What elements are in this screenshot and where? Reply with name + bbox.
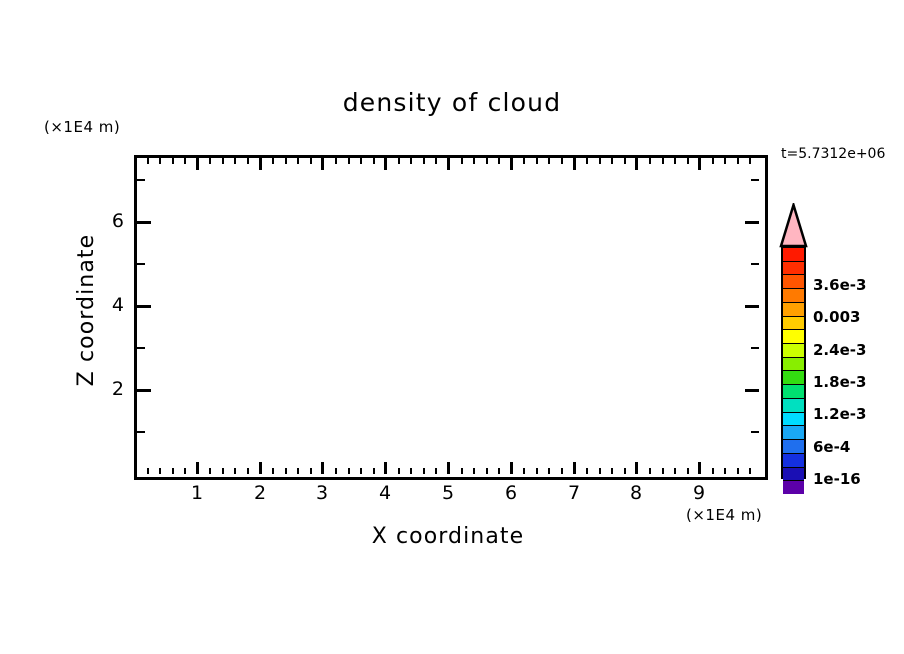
x-minor-tick (749, 468, 751, 474)
x-minor-tick-top (498, 158, 500, 164)
x-minor-tick-top (687, 158, 689, 164)
x-minor-tick (410, 468, 412, 474)
x-tick-label: 3 (307, 482, 337, 504)
x-major-tick-top (259, 158, 262, 170)
x-minor-tick (335, 468, 337, 474)
x-major-tick-top (196, 158, 199, 170)
x-minor-tick (599, 468, 601, 474)
x-minor-tick (398, 468, 400, 474)
colorbar-tick-label: 1.2e-3 (813, 405, 866, 423)
x-minor-tick (209, 468, 211, 474)
x-minor-tick (247, 468, 249, 474)
x-axis-title: X coordinate (134, 524, 762, 549)
x-minor-tick (473, 468, 475, 474)
colorbar-band (783, 358, 804, 372)
x-minor-tick (611, 468, 613, 474)
x-minor-tick-top (662, 158, 664, 164)
x-minor-tick (687, 468, 689, 474)
x-minor-tick-top (247, 158, 249, 164)
x-minor-tick (272, 468, 274, 474)
x-major-tick-top (447, 158, 450, 170)
y-axis-title: Z coordinate (74, 220, 99, 400)
x-minor-tick (662, 468, 664, 474)
x-minor-tick-top (398, 158, 400, 164)
x-major-tick (447, 462, 450, 474)
x-major-tick-top (321, 158, 324, 170)
x-major-tick-top (510, 158, 513, 170)
x-tick-label: 9 (684, 482, 714, 504)
y-minor-tick (137, 263, 145, 265)
colorbar-band (783, 385, 804, 399)
y-minor-tick (137, 431, 145, 433)
x-minor-tick-top (586, 158, 588, 164)
colorbar-band (783, 275, 804, 289)
x-minor-tick-top (348, 158, 350, 164)
colorbar-tick-label: 2.4e-3 (813, 341, 866, 359)
x-minor-tick (649, 468, 651, 474)
colorbar-band (783, 413, 804, 427)
x-minor-tick-top (272, 158, 274, 164)
colorbar-over-cap (779, 203, 808, 248)
x-minor-tick (423, 468, 425, 474)
x-minor-tick-top (624, 158, 626, 164)
x-major-tick-top (384, 158, 387, 170)
colorbar-band (783, 440, 804, 454)
x-major-tick (698, 462, 701, 474)
time-annotation: t=5.7312e+06 (781, 146, 885, 162)
x-minor-tick-top (461, 158, 463, 164)
colorbar-band (783, 399, 804, 413)
colorbar-tick-label: 1e-16 (813, 470, 861, 488)
x-minor-tick (548, 468, 550, 474)
x-tick-label: 2 (245, 482, 275, 504)
y-major-tick-right (745, 389, 759, 392)
y-minor-tick (137, 179, 145, 181)
x-minor-tick (674, 468, 676, 474)
x-minor-tick (360, 468, 362, 474)
x-minor-tick (624, 468, 626, 474)
x-major-tick (384, 462, 387, 474)
x-minor-tick (586, 468, 588, 474)
x-minor-tick-top (147, 158, 149, 164)
x-minor-tick-top (310, 158, 312, 164)
x-minor-tick-top (536, 158, 538, 164)
colorbar-band (783, 330, 804, 344)
x-minor-tick-top (423, 158, 425, 164)
x-major-tick (573, 462, 576, 474)
x-major-tick (196, 462, 199, 474)
y-minor-tick-right (751, 263, 759, 265)
y-major-tick (137, 221, 151, 224)
x-minor-tick (712, 468, 714, 474)
x-minor-tick (737, 468, 739, 474)
x-minor-tick-top (435, 158, 437, 164)
x-tick-label: 7 (559, 482, 589, 504)
y-major-tick (137, 305, 151, 308)
x-minor-tick (172, 468, 174, 474)
colorbar (781, 246, 806, 479)
x-minor-tick (498, 468, 500, 474)
page-title: density of cloud (0, 88, 904, 117)
x-minor-tick-top (473, 158, 475, 164)
x-minor-tick (724, 468, 726, 474)
x-major-tick (321, 462, 324, 474)
x-minor-tick-top (209, 158, 211, 164)
x-minor-tick-top (410, 158, 412, 164)
x-minor-tick (461, 468, 463, 474)
x-minor-tick (348, 468, 350, 474)
y-minor-tick-right (751, 431, 759, 433)
x-minor-tick-top (611, 158, 613, 164)
colorbar-tick-label: 3.6e-3 (813, 276, 866, 294)
colorbar-tick-label: 6e-4 (813, 438, 850, 456)
x-major-tick (635, 462, 638, 474)
x-major-tick-top (698, 158, 701, 170)
x-minor-tick (184, 468, 186, 474)
x-minor-tick-top (548, 158, 550, 164)
x-minor-tick (373, 468, 375, 474)
x-minor-tick-top (737, 158, 739, 164)
x-minor-tick-top (724, 158, 726, 164)
x-minor-tick-top (360, 158, 362, 164)
y-minor-tick-right (751, 179, 759, 181)
colorbar-band (783, 303, 804, 317)
x-major-tick-top (635, 158, 638, 170)
colorbar-band (783, 481, 804, 494)
colorbar-tick-label: 1.8e-3 (813, 373, 866, 391)
x-minor-tick (159, 468, 161, 474)
x-minor-tick-top (285, 158, 287, 164)
x-major-tick-top (573, 158, 576, 170)
x-minor-tick-top (297, 158, 299, 164)
x-minor-tick-top (674, 158, 676, 164)
x-minor-tick-top (234, 158, 236, 164)
colorbar-band (783, 426, 804, 440)
x-major-tick (259, 462, 262, 474)
x-minor-tick-top (486, 158, 488, 164)
y-minor-tick (137, 347, 145, 349)
x-tick-label: 6 (496, 482, 526, 504)
x-minor-tick-top (561, 158, 563, 164)
x-minor-tick-top (523, 158, 525, 164)
colorbar-band (783, 262, 804, 276)
x-minor-tick (435, 468, 437, 474)
colorbar-band (783, 468, 804, 482)
x-minor-tick (147, 468, 149, 474)
x-minor-tick-top (222, 158, 224, 164)
x-minor-tick (561, 468, 563, 474)
x-minor-tick-top (649, 158, 651, 164)
colorbar-band (783, 344, 804, 358)
x-minor-tick (285, 468, 287, 474)
y-major-tick (137, 389, 151, 392)
x-minor-tick (297, 468, 299, 474)
x-minor-tick-top (172, 158, 174, 164)
x-tick-label: 1 (182, 482, 212, 504)
colorbar-band (783, 371, 804, 385)
y-minor-tick-right (751, 347, 759, 349)
y-major-tick-right (745, 305, 759, 308)
x-minor-tick-top (712, 158, 714, 164)
x-major-tick (510, 462, 513, 474)
x-minor-tick (486, 468, 488, 474)
x-axis-unit-label: (×1E4 m) (686, 506, 762, 524)
x-minor-tick-top (373, 158, 375, 164)
x-minor-tick-top (335, 158, 337, 164)
x-minor-tick (523, 468, 525, 474)
x-tick-label: 8 (621, 482, 651, 504)
colorbar-tick-label: 0.003 (813, 308, 860, 326)
x-tick-label: 4 (370, 482, 400, 504)
x-minor-tick-top (184, 158, 186, 164)
colorbar-band (783, 289, 804, 303)
colorbar-band (783, 454, 804, 468)
y-axis-unit-label: (×1E4 m) (44, 118, 120, 136)
colorbar-band (783, 317, 804, 331)
x-minor-tick (536, 468, 538, 474)
colorbar-band (783, 248, 804, 262)
x-minor-tick (310, 468, 312, 474)
x-minor-tick (222, 468, 224, 474)
x-minor-tick (234, 468, 236, 474)
x-minor-tick-top (159, 158, 161, 164)
x-minor-tick-top (599, 158, 601, 164)
figure-root: density of cloud (×1E4 m) t=5.7312e+06 1… (0, 0, 904, 654)
plot-frame (134, 155, 768, 480)
x-minor-tick-top (749, 158, 751, 164)
x-tick-label: 5 (433, 482, 463, 504)
y-major-tick-right (745, 221, 759, 224)
